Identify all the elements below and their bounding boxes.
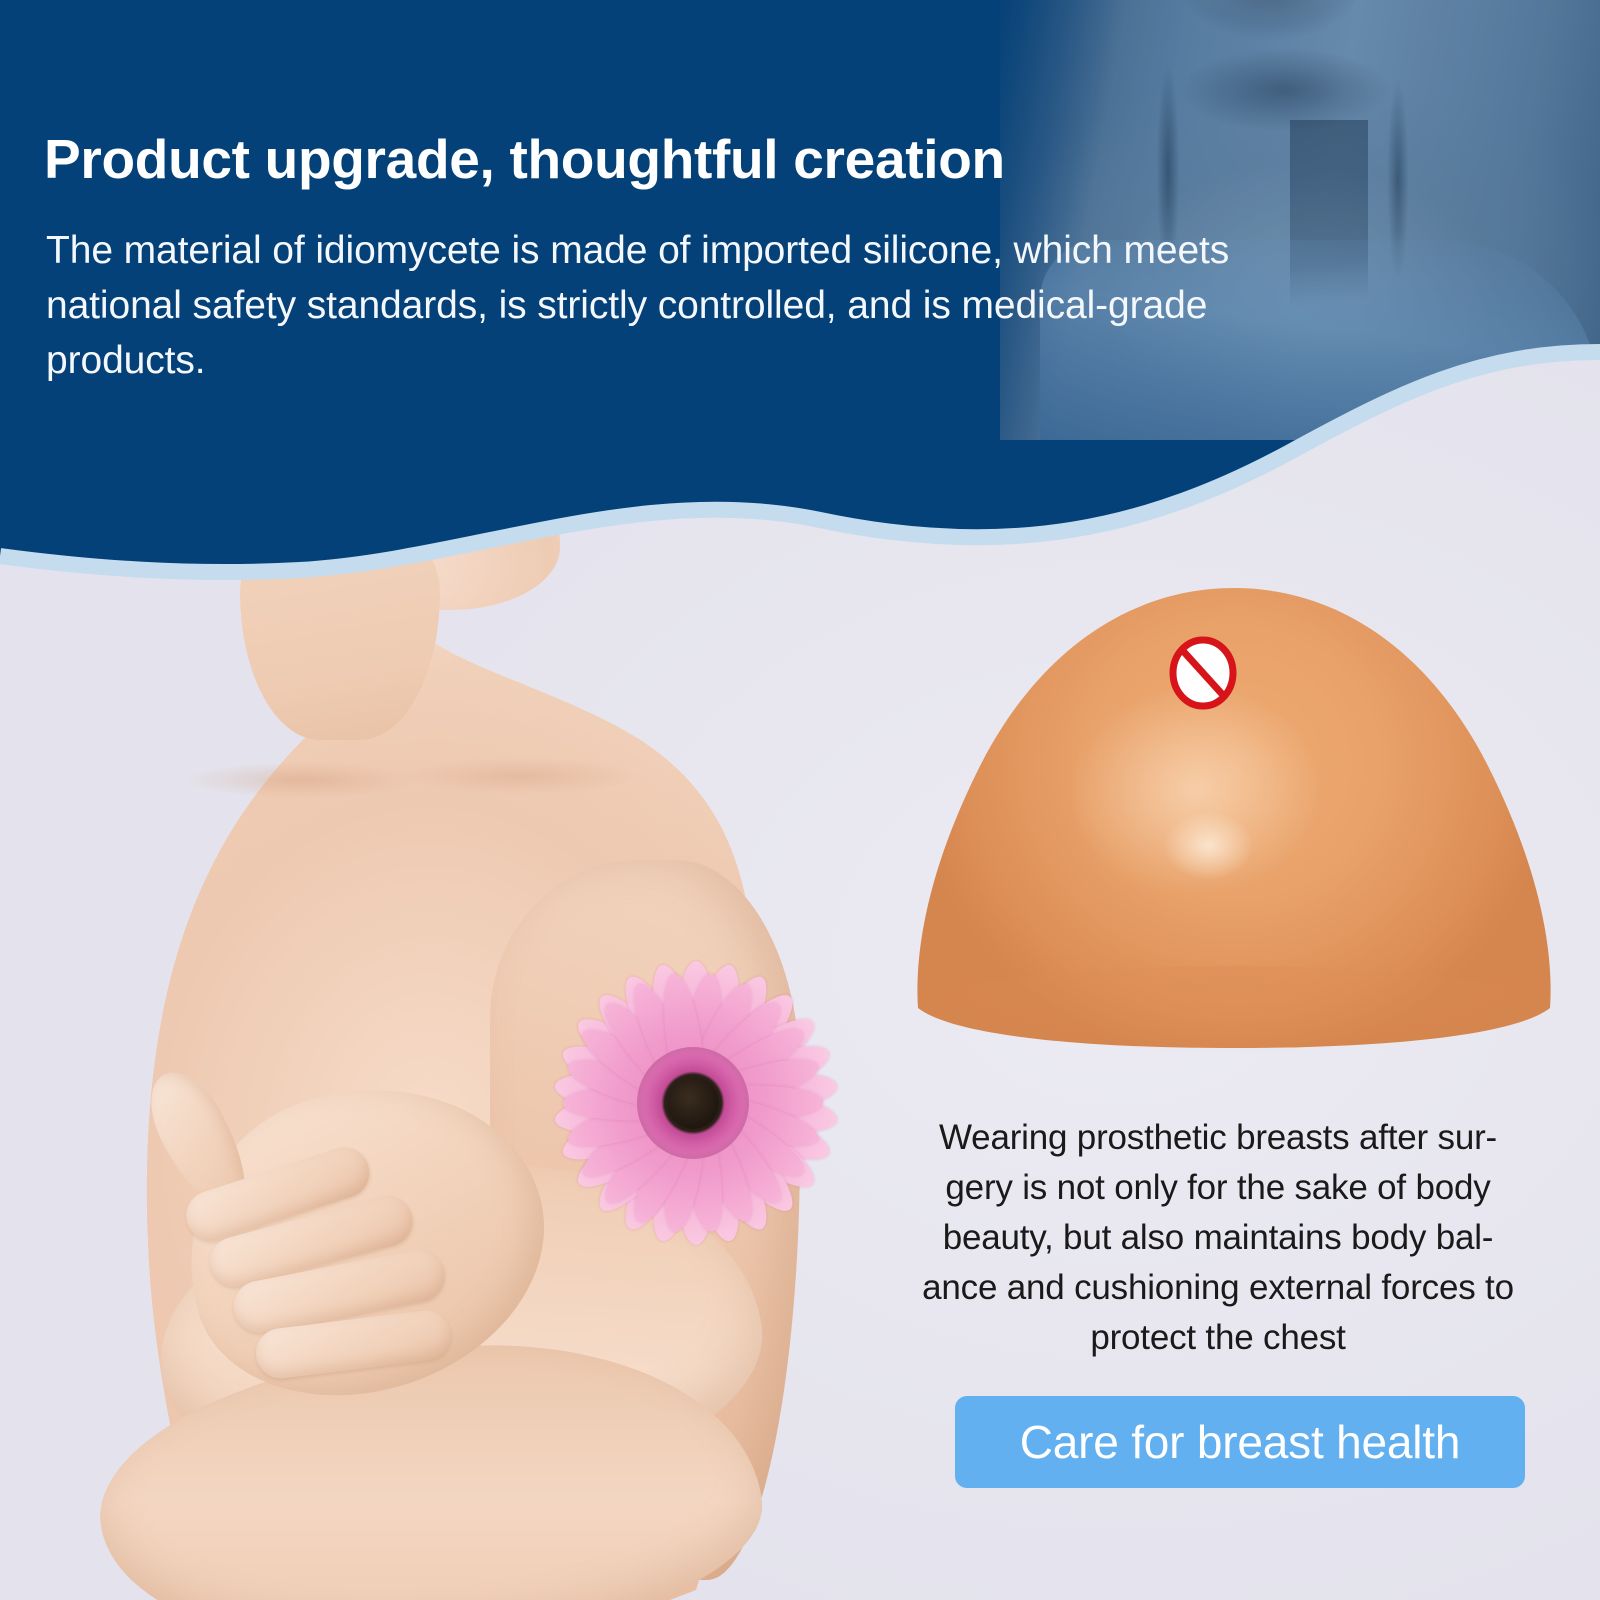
header-description: The material of idiomycete is made of im… [46, 223, 1298, 388]
product-poster: Product upgrade, thoughtful creation The… [0, 0, 1600, 1600]
prohibition-icon [1167, 634, 1239, 712]
page-title: Product upgrade, thoughtful creation [44, 129, 1224, 189]
flower-center-disk [637, 1047, 749, 1159]
product-benefit-caption: Wearing prosthetic breasts after sur-ger… [918, 1113, 1518, 1363]
dome-base-rim [916, 966, 1552, 1052]
pink-gerbera-flower-icon [548, 958, 838, 1248]
care-for-breast-health-button[interactable]: Care for breast health [955, 1396, 1525, 1488]
collarbone-shading [120, 720, 660, 840]
